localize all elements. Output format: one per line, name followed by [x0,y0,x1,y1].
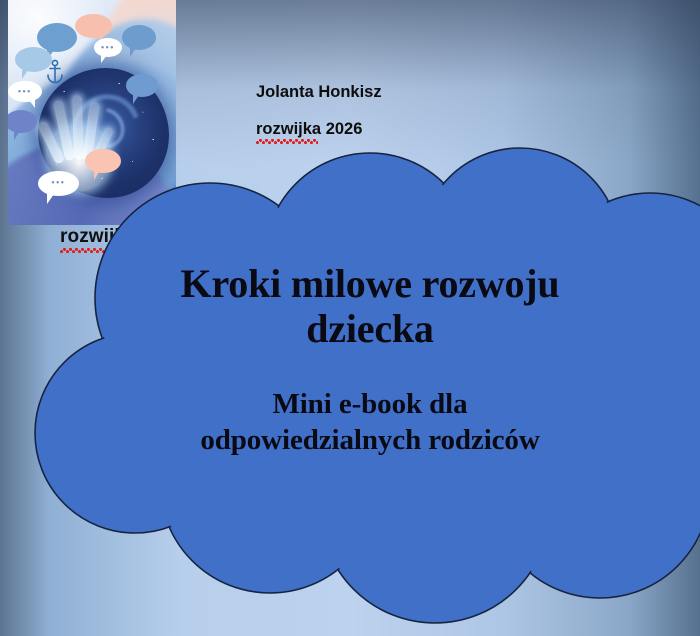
brand-year-text: rozwijka 2026 [256,120,362,138]
cloud-subtitle-line-1: Mini e-book dla [110,386,630,422]
cloud-title: Kroki milowe rozwoju dziecka [110,262,630,352]
cloud-title-line-1: Kroki milowe rozwoju [110,262,630,307]
speech-bubble-icon [75,14,112,39]
spellcheck-squiggle [256,139,318,144]
slide-canvas: ••• ••• ••• rozwijka Jolanta Honkisz [0,0,700,636]
speech-bubble-icon: ••• [8,81,42,102]
speech-bubble-icon [85,149,120,174]
speech-bubble-icon [8,110,37,133]
cloud-subtitle-line-2: odpowiedzialnych rodziców [110,422,630,458]
author-name: Jolanta Honkisz [256,84,382,101]
anchor-icon [45,59,65,85]
cloud-subtitle: Mini e-book dla odpowiedzialnych rodzicó… [110,386,630,459]
brand-year: rozwijka 2026 [256,121,382,145]
bubble-dots: ••• [101,43,115,52]
cloud-title-line-2: dziecka [110,307,630,352]
speech-bubble-icon [37,23,77,52]
speech-bubble-icon [122,25,156,50]
cloud-text-block: Kroki milowe rozwoju dziecka Mini e-book… [110,262,630,458]
bubble-dots: ••• [18,87,32,96]
author-block: Jolanta Honkisz rozwijka 2026 [256,84,382,144]
speech-bubble-icon [126,74,158,97]
